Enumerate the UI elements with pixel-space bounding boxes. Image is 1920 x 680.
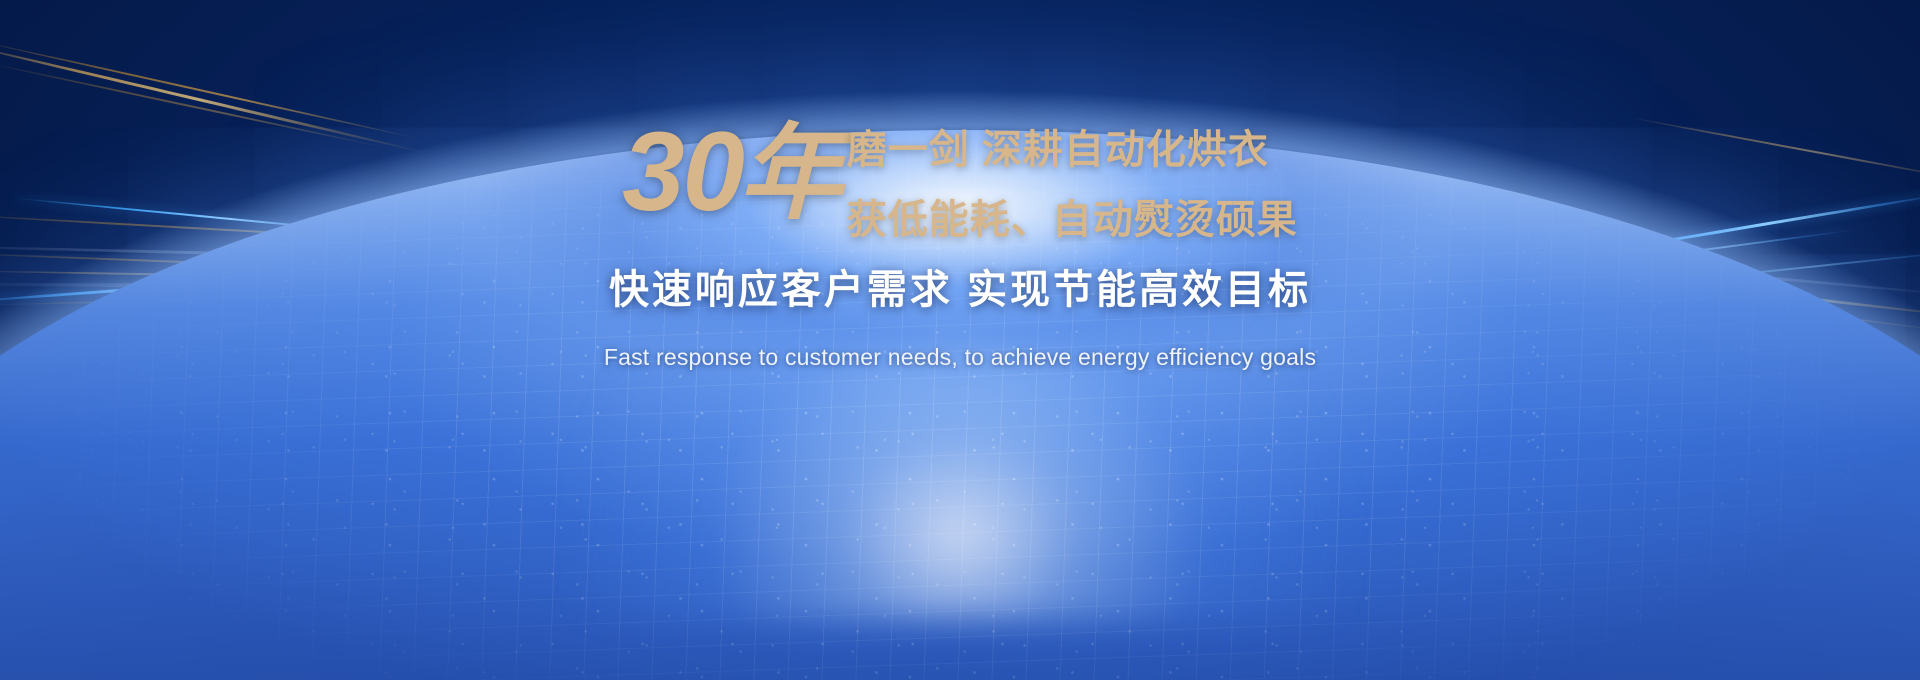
anniversary-number: 30 <box>622 116 743 228</box>
gold-line-2: 获低能耗、自动熨烫硕果 <box>847 200 1298 240</box>
gold-line-1: 磨一剑 深耕自动化烘衣 <box>847 130 1298 170</box>
subtitle-english: Fast response to customer needs, to achi… <box>604 346 1316 369</box>
headline-row: 30 年 磨一剑 深耕自动化烘衣 获低能耗、自动熨烫硕果 <box>622 112 1298 240</box>
subtitle-chinese: 快速响应客户需求 实现节能高效目标 <box>609 270 1311 310</box>
promo-banner: 30 年 磨一剑 深耕自动化烘衣 获低能耗、自动熨烫硕果 快速响应客户需求 实现… <box>0 0 1920 680</box>
gold-text-lines: 磨一剑 深耕自动化烘衣 获低能耗、自动熨烫硕果 <box>847 112 1298 240</box>
anniversary-unit: 年 <box>739 122 843 226</box>
banner-content: 30 年 磨一剑 深耕自动化烘衣 获低能耗、自动熨烫硕果 快速响应客户需求 实现… <box>0 112 1920 369</box>
